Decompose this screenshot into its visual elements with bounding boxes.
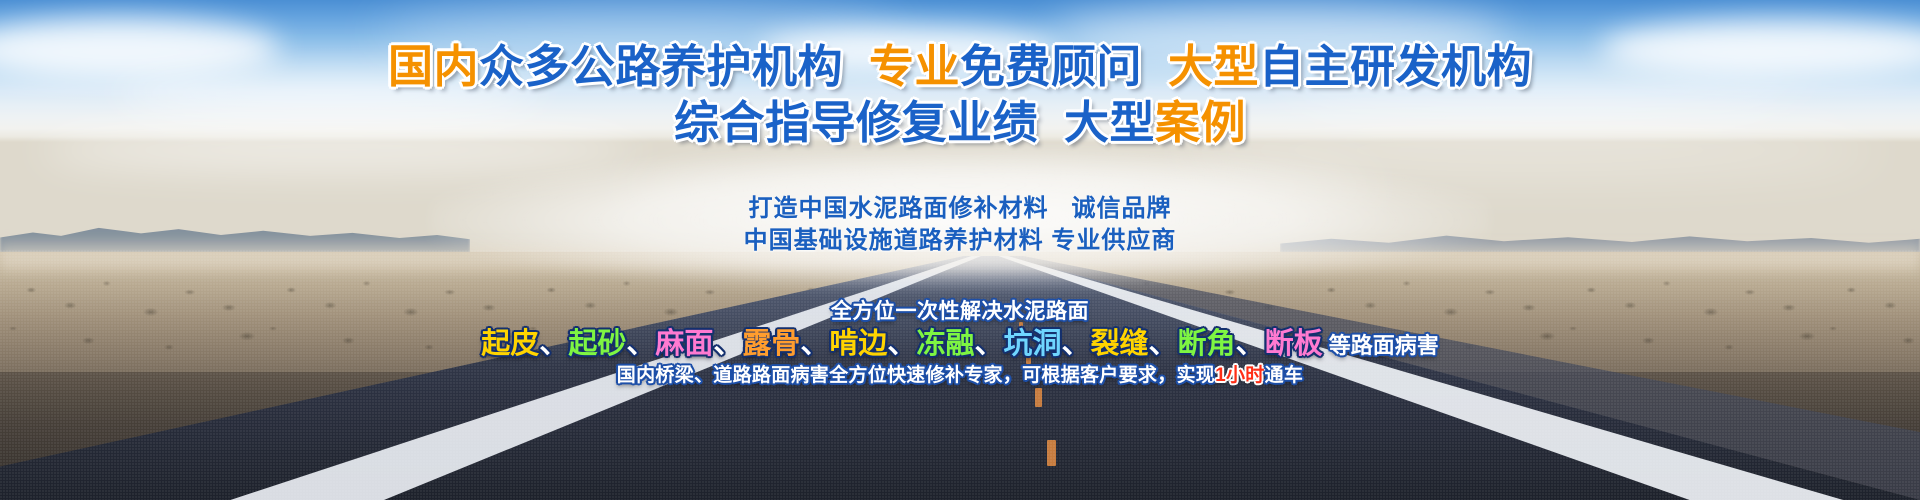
defect-term: 断板 xyxy=(1265,328,1323,360)
footer-line-3: 国内桥梁、道路路面病害全方位快速修补专家，可根据客户要求，实现1小时通车 xyxy=(0,360,1920,387)
footer-line-3-suffix: 通车 xyxy=(1265,365,1304,386)
headline-gap xyxy=(1142,41,1168,92)
headline-segment: 专业 xyxy=(869,41,960,92)
footer-line-3-prefix: 国内桥梁、道路路面病害全方位快速修补专家，可根据客户要求，实现 xyxy=(617,365,1215,386)
defect-sep: 、 xyxy=(974,328,1003,360)
subheadline-line-1: 打造中国水泥路面修补材料 诚信品牌 xyxy=(0,193,1920,225)
defect-sep: 、 xyxy=(887,328,916,360)
headline-segment: 国内 xyxy=(388,41,479,92)
footer-highlight-duration: 1小时 xyxy=(1215,365,1264,386)
defect-term: 啃边 xyxy=(829,328,887,360)
headline-segment: 综合指导修复业绩 xyxy=(674,97,1038,148)
defect-list-tail: 等路面病害 xyxy=(1323,333,1439,358)
headline-segment: 众多公路养护机构 xyxy=(479,41,843,92)
headline-line-2: 综合指导修复业绩 大型案例 xyxy=(0,100,1920,145)
defect-sep: 、 xyxy=(1236,328,1265,360)
headline-line-1: 国内众多公路养护机构 专业免费顾问 大型自主研发机构 xyxy=(0,44,1920,89)
defect-sep: 、 xyxy=(626,328,655,360)
defect-sep: 、 xyxy=(1149,328,1178,360)
defect-term: 断角 xyxy=(1178,328,1236,360)
headline-segment: 自主研发机构 xyxy=(1259,41,1532,92)
defect-sep: 、 xyxy=(800,328,829,360)
defect-term: 坑洞 xyxy=(1003,328,1061,360)
hero-banner: 国内众多公路养护机构 专业免费顾问 大型自主研发机构 综合指导修复业绩 大型案例… xyxy=(0,0,1920,500)
defect-term: 起皮 xyxy=(481,328,539,360)
defect-term: 露骨 xyxy=(742,328,800,360)
defect-sep: 、 xyxy=(713,328,742,360)
headline-segment: 案例 xyxy=(1155,97,1246,148)
headline-segment: 大型 xyxy=(1168,41,1259,92)
defect-term: 起砂 xyxy=(568,328,626,360)
subheadline-line-2: 中国基础设施道路养护材料 专业供应商 xyxy=(0,225,1920,257)
headline-segment: 免费顾问 xyxy=(960,41,1142,92)
defect-term: 冻融 xyxy=(916,328,974,360)
footer-defect-list: 起皮、起砂、麻面、露骨、啃边、冻融、坑洞、裂缝、断角、断板 等路面病害 xyxy=(0,320,1920,362)
headline-gap xyxy=(843,41,869,92)
defect-term: 麻面 xyxy=(655,328,713,360)
headline-segment: 大型 xyxy=(1064,97,1155,148)
defect-term: 裂缝 xyxy=(1091,328,1149,360)
headline-gap xyxy=(1038,97,1064,148)
defect-sep: 、 xyxy=(539,328,568,360)
defect-sep: 、 xyxy=(1061,328,1090,360)
